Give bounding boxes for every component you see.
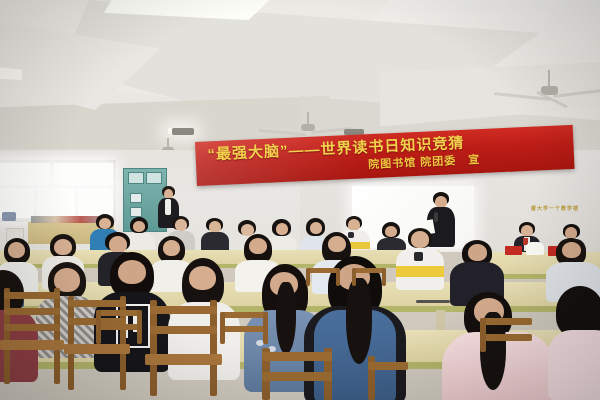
window-pane-1 — [0, 163, 50, 185]
projector-unit — [172, 128, 194, 135]
red-folder-1 — [505, 246, 522, 255]
window-pane-4 — [37, 188, 75, 216]
photo-scene: 厦大学一个教学楼 “最强大脑”——世界读书日知识竞猜 院图书馆 院团委 宣 — [0, 0, 600, 400]
pen-on-table — [416, 300, 450, 303]
window-pane-2 — [53, 163, 113, 185]
wall-item-blue — [2, 212, 16, 221]
yellow-stripe-mid — [396, 266, 444, 277]
wall-sign: 厦大学一个教学楼 — [531, 205, 579, 212]
window-pane-5 — [78, 188, 113, 216]
judges-papers — [526, 242, 544, 255]
microphone — [434, 212, 438, 222]
